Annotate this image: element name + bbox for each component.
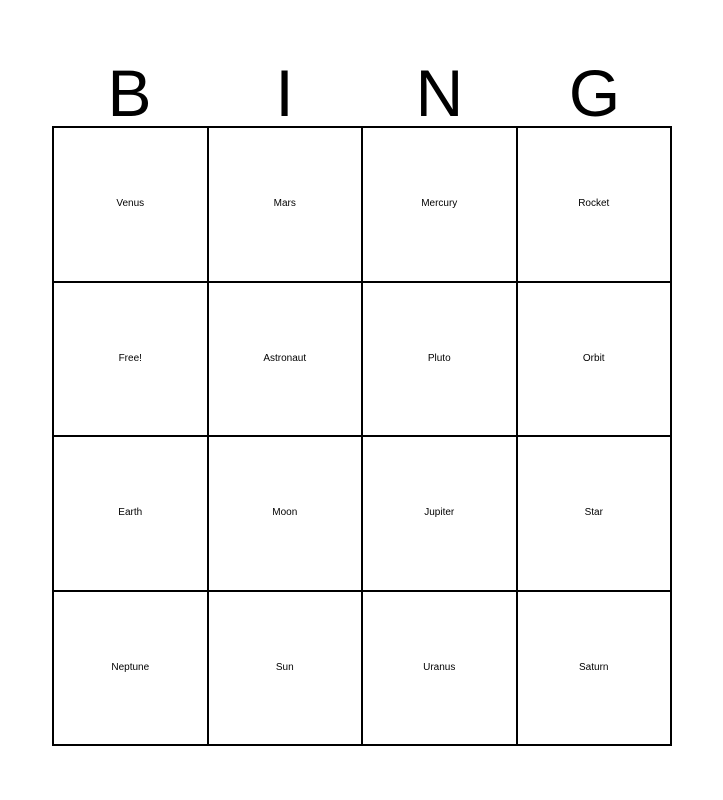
- bingo-cell-label: Rocket: [518, 199, 671, 210]
- bingo-cell-label: Jupiter: [363, 508, 516, 519]
- bingo-cell[interactable]: Sun: [209, 592, 364, 747]
- bingo-cell[interactable]: Star: [518, 437, 673, 592]
- bingo-cell-label: Free!: [54, 354, 207, 365]
- header-letter-2: I: [207, 40, 362, 126]
- header-letter-label: B: [107, 60, 151, 126]
- bingo-cell[interactable]: Orbit: [518, 283, 673, 438]
- bingo-cell-label: Pluto: [363, 354, 516, 365]
- bingo-cell-label: Saturn: [518, 663, 671, 674]
- header-letter-label: N: [416, 60, 464, 126]
- bingo-grid: Venus Mars Mercury Rocket Free! Astronau…: [52, 126, 672, 746]
- bingo-cell[interactable]: Rocket: [518, 128, 673, 283]
- bingo-cell-label: Venus: [54, 199, 207, 210]
- bingo-cell-label: Neptune: [54, 663, 207, 674]
- bingo-cell[interactable]: Uranus: [363, 592, 518, 747]
- bingo-cell-label: Earth: [54, 508, 207, 519]
- bingo-cell[interactable]: Moon: [209, 437, 364, 592]
- header-letter-label: G: [569, 60, 620, 126]
- bingo-card: B I N G Venus Mars Mercury Rocket Free! …: [0, 0, 723, 800]
- bingo-cell-label: Uranus: [363, 663, 516, 674]
- header-letter-label: I: [275, 60, 293, 126]
- header-letter-1: B: [52, 40, 207, 126]
- bingo-cell-label: Mars: [209, 199, 362, 210]
- bingo-cell-free[interactable]: Free!: [54, 283, 209, 438]
- bingo-cell-label: Moon: [209, 508, 362, 519]
- bingo-header: B I N G: [52, 40, 672, 126]
- bingo-cell[interactable]: Jupiter: [363, 437, 518, 592]
- bingo-cell-label: Star: [518, 508, 671, 519]
- bingo-cell[interactable]: Pluto: [363, 283, 518, 438]
- bingo-cell[interactable]: Mars: [209, 128, 364, 283]
- bingo-cell[interactable]: Neptune: [54, 592, 209, 747]
- bingo-cell[interactable]: Astronaut: [209, 283, 364, 438]
- header-letter-3: N: [362, 40, 517, 126]
- bingo-cell[interactable]: Mercury: [363, 128, 518, 283]
- header-letter-4: G: [517, 40, 672, 126]
- bingo-cell-label: Sun: [209, 663, 362, 674]
- bingo-cell[interactable]: Saturn: [518, 592, 673, 747]
- bingo-cell[interactable]: Venus: [54, 128, 209, 283]
- bingo-cell[interactable]: Earth: [54, 437, 209, 592]
- bingo-cell-label: Astronaut: [209, 354, 362, 365]
- bingo-cell-label: Orbit: [518, 354, 671, 365]
- bingo-cell-label: Mercury: [363, 199, 516, 210]
